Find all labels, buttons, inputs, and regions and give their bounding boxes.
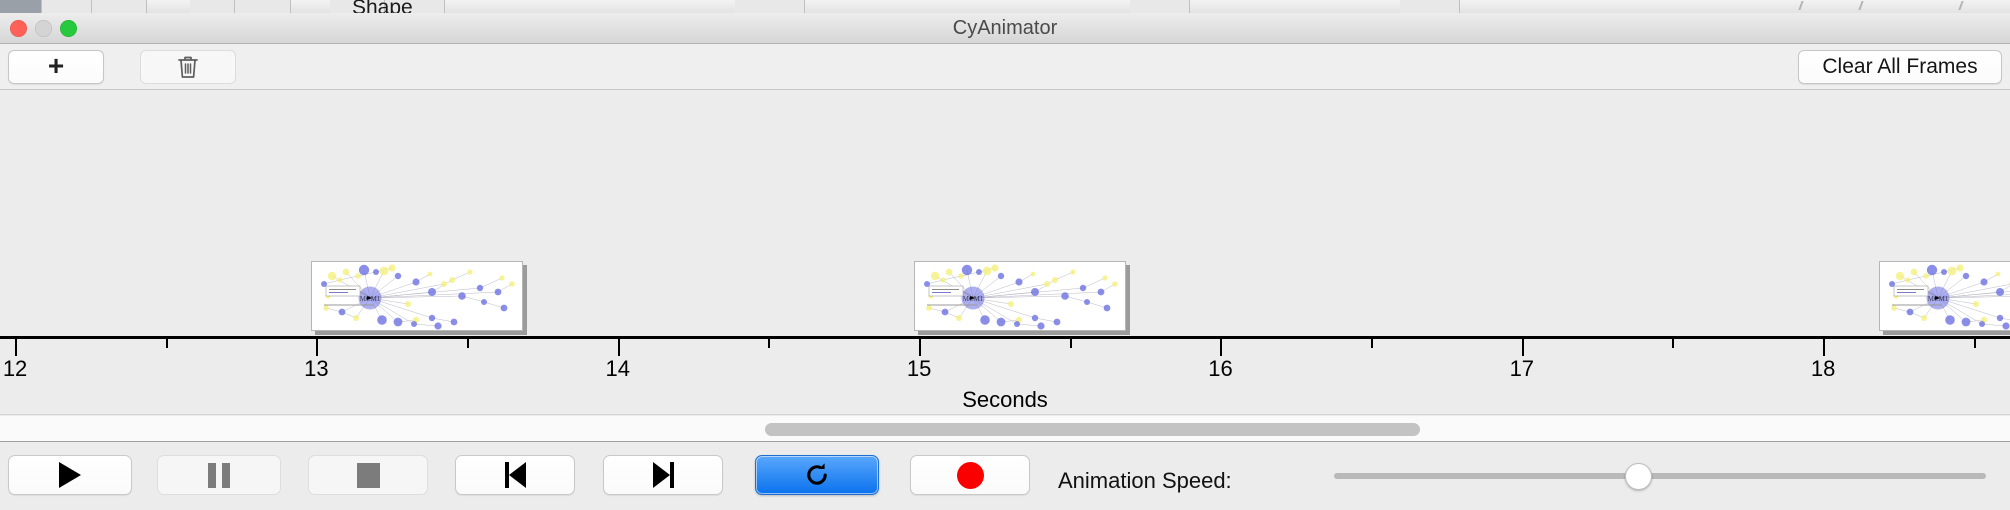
stop-icon xyxy=(357,463,380,488)
svg-text:MCM1: MCM1 xyxy=(360,295,381,303)
cyanimator-window: Shape CyAnimator + Clear All Frames MCM xyxy=(0,0,2010,510)
axis-tick-major xyxy=(1522,339,1524,356)
plus-icon: + xyxy=(48,52,64,80)
pause-button[interactable] xyxy=(157,455,281,495)
axis-tick-label: 14 xyxy=(606,356,630,382)
loop-button[interactable] xyxy=(755,455,879,495)
axis-tick-label: 18 xyxy=(1811,356,1835,382)
record-icon xyxy=(957,462,984,489)
play-button[interactable] xyxy=(8,455,132,495)
skip-back-icon xyxy=(505,462,526,488)
clear-all-frames-button[interactable]: Clear All Frames xyxy=(1798,50,2002,84)
animation-speed-slider[interactable] xyxy=(1334,473,1986,479)
toolbar: + Clear All Frames xyxy=(0,44,2010,90)
svg-text:MCM1: MCM1 xyxy=(1927,295,1948,303)
timeline-scrollbar[interactable] xyxy=(0,416,2010,442)
timeline-canvas[interactable]: MCM1MCM1MCM1 12131415161718 Seconds xyxy=(0,91,2010,415)
axis-tick-major xyxy=(15,339,17,356)
pause-icon xyxy=(208,463,230,488)
clear-all-frames-label: Clear All Frames xyxy=(1822,55,1977,79)
window-title: CyAnimator xyxy=(0,13,2010,44)
title-bar: CyAnimator xyxy=(0,13,2010,44)
axis-tick-label: 16 xyxy=(1208,356,1232,382)
animation-speed-slider-thumb[interactable] xyxy=(1625,463,1652,490)
thumbnail-image: MCM1 xyxy=(914,261,1126,331)
background-window-label: Shape xyxy=(352,0,413,13)
axis-title: Seconds xyxy=(0,387,2010,413)
stop-button[interactable] xyxy=(308,455,428,495)
timeline-frame-thumbnail[interactable]: MCM1 xyxy=(914,261,1130,333)
timeline-axis-line xyxy=(0,336,2010,339)
loop-icon xyxy=(802,460,832,490)
axis-tick-minor xyxy=(1371,339,1373,348)
axis-tick-major xyxy=(1823,339,1825,356)
svg-text:MCM1: MCM1 xyxy=(963,295,984,303)
trash-icon xyxy=(176,54,200,80)
axis-tick-label: 15 xyxy=(907,356,931,382)
thumbnail-image: MCM1 xyxy=(311,261,523,331)
record-button[interactable] xyxy=(910,455,1030,495)
axis-tick-minor xyxy=(1974,339,1976,348)
add-frame-button[interactable]: + xyxy=(8,50,104,84)
axis-tick-minor xyxy=(166,339,168,348)
background-window-strip: Shape xyxy=(0,0,2010,13)
axis-tick-major xyxy=(316,339,318,356)
skip-to-end-button[interactable] xyxy=(603,455,723,495)
axis-tick-minor xyxy=(467,339,469,348)
skip-forward-icon xyxy=(653,462,674,488)
play-icon xyxy=(59,462,81,488)
axis-tick-label: 17 xyxy=(1510,356,1534,382)
axis-tick-minor xyxy=(768,339,770,348)
axis-tick-major xyxy=(618,339,620,356)
thumbnail-image: MCM1 xyxy=(1879,261,2010,331)
timeline-frame-thumbnail[interactable]: MCM1 xyxy=(1879,261,2010,333)
timeline-scroll-thumb[interactable] xyxy=(765,423,1420,436)
axis-tick-label: 13 xyxy=(304,356,328,382)
delete-frame-button[interactable] xyxy=(140,50,236,84)
timeline-frame-thumbnail[interactable]: MCM1 xyxy=(311,261,527,333)
axis-tick-label: 12 xyxy=(3,356,27,382)
skip-to-start-button[interactable] xyxy=(455,455,575,495)
axis-tick-major xyxy=(919,339,921,356)
playback-bar: Animation Speed: xyxy=(0,443,2010,510)
animation-speed-label: Animation Speed: xyxy=(1058,468,1232,494)
axis-tick-major xyxy=(1220,339,1222,356)
axis-tick-minor xyxy=(1672,339,1674,348)
axis-tick-minor xyxy=(1070,339,1072,348)
